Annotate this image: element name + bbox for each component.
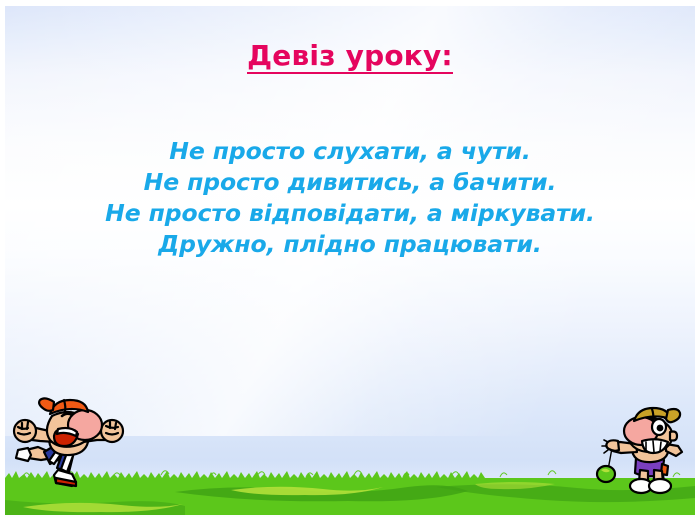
slide-canvas: Девіз уроку: Не просто слухати, а чути. … (0, 0, 700, 525)
motto-line-2: Не просто дивитись, а бачити. (52, 167, 648, 198)
boy-with-yoyo-icon (596, 408, 698, 496)
running-boy-icon (8, 398, 136, 490)
page-title: Девіз уроку: (247, 41, 453, 74)
motto-line-4: Дружно, плідно працювати. (52, 229, 648, 260)
motto-text-block: Не просто слухати, а чути. Не просто див… (52, 136, 648, 260)
title-container: Девіз уроку: (0, 41, 700, 74)
motto-line-1: Не просто слухати, а чути. (52, 136, 648, 167)
left-cartoon-character (8, 398, 136, 490)
right-cartoon-character (596, 408, 698, 496)
motto-line-3: Не просто відповідати, а міркувати. (52, 198, 648, 229)
